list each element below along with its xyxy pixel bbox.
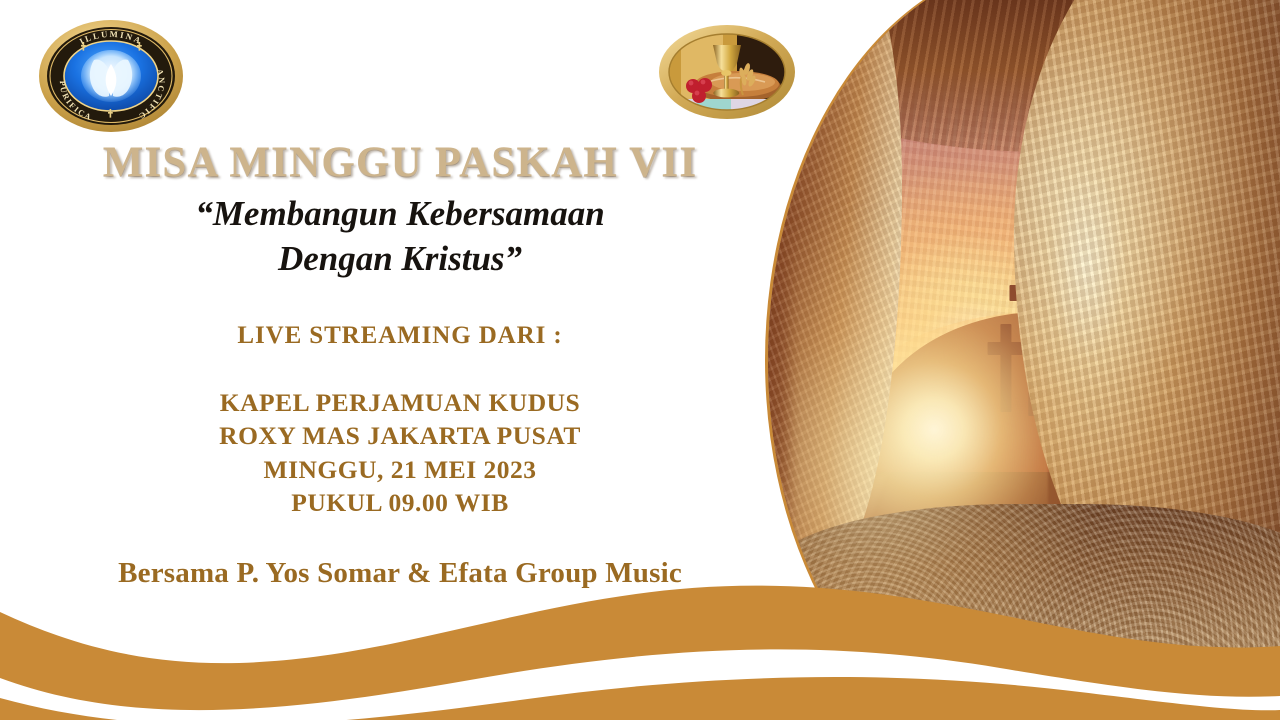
performer-credit: Bersama P. Yos Somar & Efata Group Music	[0, 557, 800, 590]
poster-canvas: ILLUMINA PURIFICA SANCTIFICA	[0, 0, 1280, 720]
live-streaming-label: LIVE STREAMING DARI :	[0, 322, 800, 350]
subtitle-line-2: Dengan Kristus”	[0, 237, 800, 282]
venue-line: ROXY MAS JAKARTA PUSAT	[0, 419, 800, 452]
subtitle-line-1: “Membangun Kebersamaan	[0, 192, 800, 237]
venue-details: KAPEL PERJAMUAN KUDUS ROXY MAS JAKARTA P…	[0, 386, 800, 520]
venue-line: KAPEL PERJAMUAN KUDUS	[0, 386, 800, 419]
page-title: MISA MINGGU PASKAH VII	[0, 138, 800, 187]
venue-line: MINGGU, 21 MEI 2023	[0, 453, 800, 486]
poster-subtitle: “Membangun Kebersamaan Dengan Kristus”	[0, 192, 800, 282]
poster-text-content: MISA MINGGU PASKAH VII “Membangun Kebers…	[0, 0, 800, 640]
venue-line: PUKUL 09.00 WIB	[0, 486, 800, 519]
